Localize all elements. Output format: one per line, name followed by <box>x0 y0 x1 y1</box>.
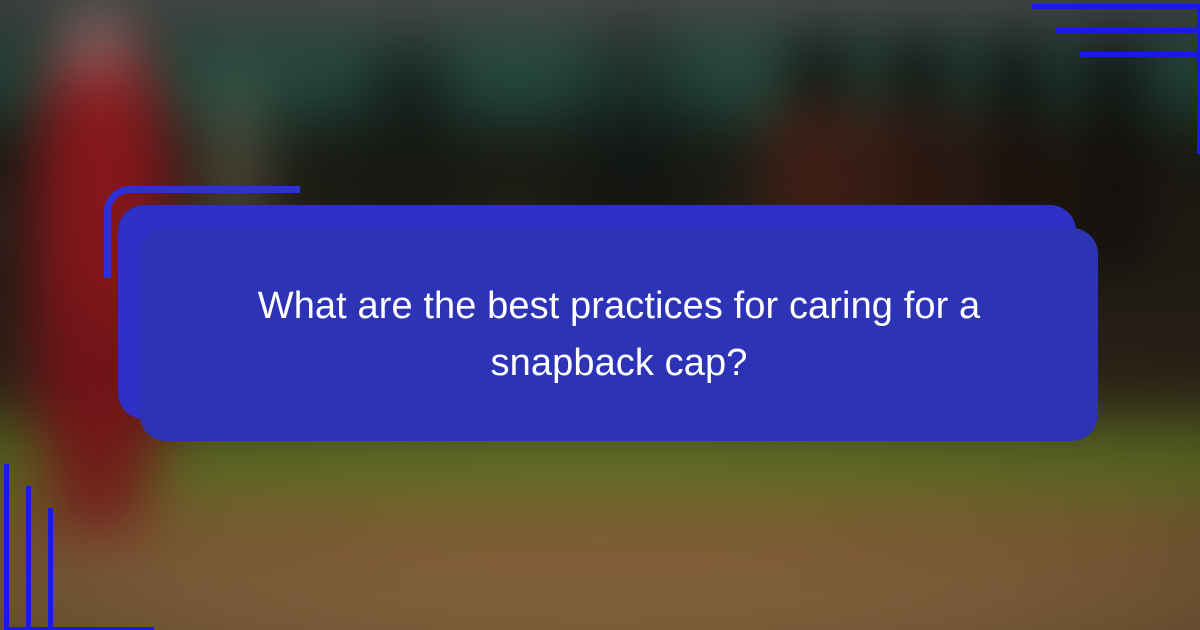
question-card: What are the best practices for caring f… <box>140 228 1098 441</box>
question-headline: What are the best practices for caring f… <box>239 278 999 392</box>
corner-bracket-top-right-inner <box>1080 52 1200 154</box>
corner-bracket-bottom-left-inner <box>48 508 154 630</box>
share-card-canvas: What are the best practices for caring f… <box>0 0 1200 630</box>
